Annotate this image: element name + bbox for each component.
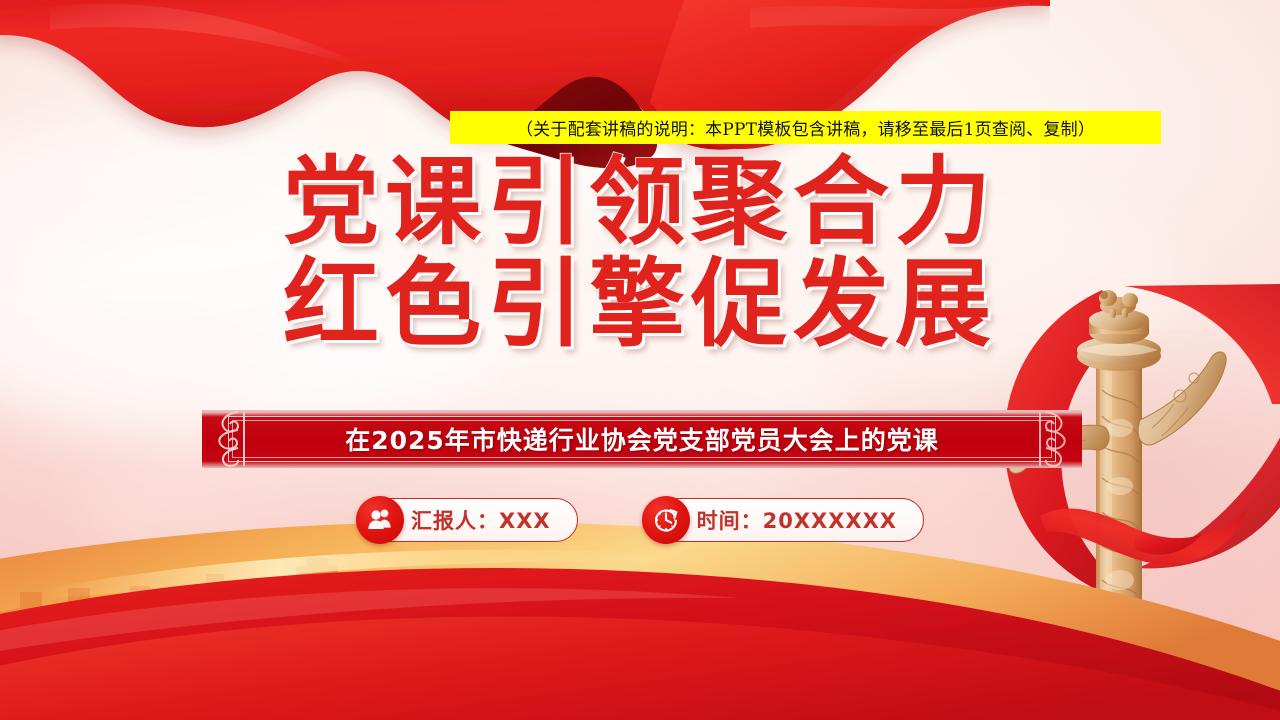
clock-refresh-icon bbox=[642, 496, 690, 544]
title-line-2: 红色引擎促发展 bbox=[0, 250, 1280, 358]
presenter-label: 汇报人：XXX bbox=[411, 505, 551, 535]
subtitle-text: 在2025年市快递行业协会党支部党员大会上的党课 bbox=[202, 410, 1082, 468]
users-icon bbox=[356, 496, 404, 544]
note-bar-text: （关于配套讲稿的说明：本PPT模板包含讲稿，请移至最后1页查阅、复制） bbox=[516, 115, 1095, 140]
subtitle-banner: 在2025年市快递行业协会党支部党员大会上的党课 bbox=[202, 410, 1082, 468]
date-label: 时间：20XXXXXX bbox=[697, 505, 897, 535]
mountain-watercolor-wash bbox=[860, 330, 1280, 630]
note-bar: （关于配套讲稿的说明：本PPT模板包含讲稿，请移至最后1页查阅、复制） bbox=[450, 111, 1161, 144]
slide-canvas: （关于配套讲稿的说明：本PPT模板包含讲稿，请移至最后1页查阅、复制） 党课引领… bbox=[0, 0, 1280, 720]
title-line-1: 党课引领聚合力 bbox=[0, 148, 1280, 256]
title-block: 党课引领聚合力 红色引擎促发展 bbox=[0, 148, 1280, 359]
presenter-pill[interactable]: 汇报人：XXX bbox=[356, 496, 578, 544]
info-pill-group: 汇报人：XXX 时间：20XXXXXX bbox=[0, 496, 1280, 544]
date-pill[interactable]: 时间：20XXXXXX bbox=[642, 496, 924, 544]
